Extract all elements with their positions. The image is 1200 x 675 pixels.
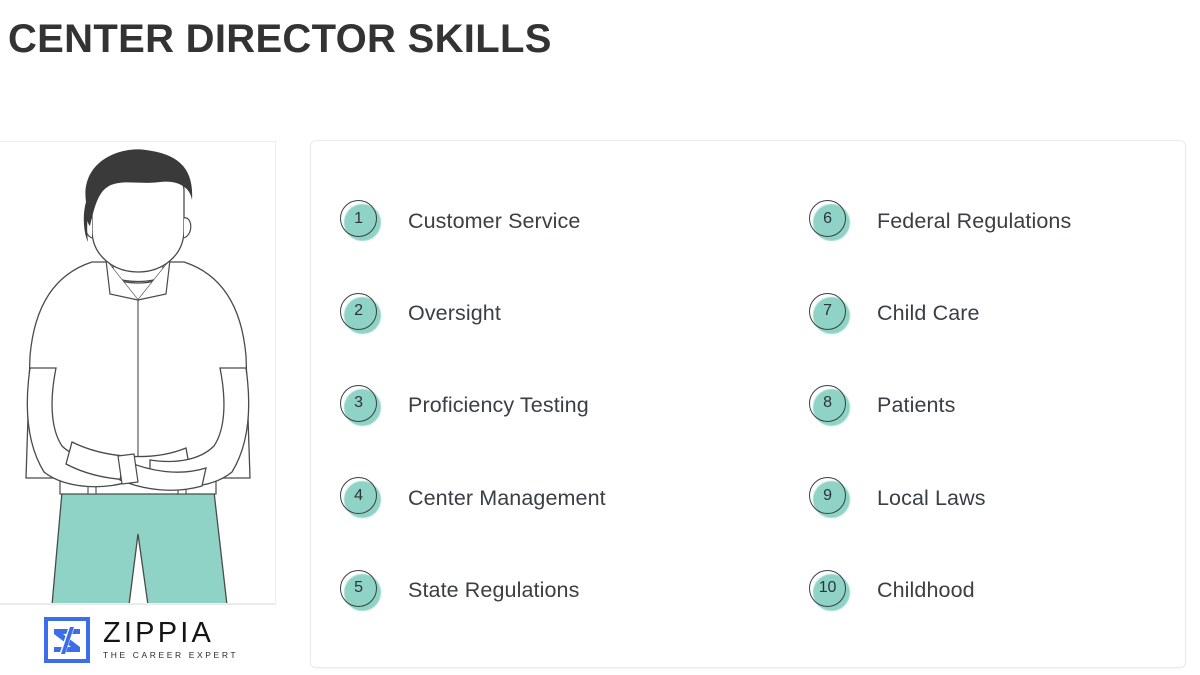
badge-number: 6: [809, 200, 846, 237]
skill-label: Patients: [877, 393, 956, 418]
skill-item-3[interactable]: 3 Proficiency Testing: [311, 360, 748, 452]
skill-item-8[interactable]: 8 Patients: [748, 360, 1185, 452]
illustration-panel: [0, 141, 276, 604]
skill-item-1[interactable]: 1 Customer Service: [311, 175, 748, 267]
badge-number: 2: [340, 293, 377, 330]
page-title: CENTER DIRECTOR SKILLS: [8, 14, 552, 64]
skill-number-badge: 5: [339, 569, 383, 613]
skill-label: Proficiency Testing: [408, 393, 589, 418]
skill-label: Child Care: [877, 301, 980, 326]
skill-label: Customer Service: [408, 209, 580, 234]
skill-number-badge: 3: [339, 384, 383, 428]
skill-label: Oversight: [408, 301, 501, 326]
badge-number: 7: [809, 293, 846, 330]
badge-number: 1: [340, 200, 377, 237]
skill-label: Local Laws: [877, 486, 986, 511]
skill-item-6[interactable]: 6 Federal Regulations: [748, 175, 1185, 267]
skill-label: State Regulations: [408, 578, 579, 603]
skill-item-9[interactable]: 9 Local Laws: [748, 452, 1185, 544]
zippia-wordmark: ZIPPIA THE CAREER EXPERT: [103, 618, 238, 662]
skill-number-badge: 7: [808, 292, 852, 336]
skill-label: Childhood: [877, 578, 975, 603]
man-arms-crossed-illustration: [0, 142, 276, 604]
badge-number: 4: [340, 477, 377, 514]
skill-item-7[interactable]: 7 Child Care: [748, 267, 1185, 359]
badge-number: 9: [809, 477, 846, 514]
skill-number-badge: 9: [808, 476, 852, 520]
badge-number: 3: [340, 385, 377, 422]
zippia-name: ZIPPIA: [103, 618, 238, 648]
skill-number-badge: 6: [808, 199, 852, 243]
skill-number-badge: 1: [339, 199, 383, 243]
skill-label: Federal Regulations: [877, 209, 1071, 234]
skill-number-badge: 2: [339, 292, 383, 336]
skills-card: 1 Customer Service 6 Federal Regulations…: [310, 140, 1186, 668]
zippia-tagline: THE CAREER EXPERT: [103, 649, 238, 662]
skill-item-2[interactable]: 2 Oversight: [311, 267, 748, 359]
zippia-z-logo-icon: [44, 617, 90, 663]
skill-item-4[interactable]: 4 Center Management: [311, 452, 748, 544]
skill-number-badge: 8: [808, 384, 852, 428]
skill-label: Center Management: [408, 486, 606, 511]
badge-number: 8: [809, 385, 846, 422]
skill-number-badge: 10: [808, 569, 852, 613]
skill-item-5[interactable]: 5 State Regulations: [311, 545, 748, 637]
badge-number: 10: [809, 570, 846, 607]
badge-number: 5: [340, 570, 377, 607]
skill-number-badge: 4: [339, 476, 383, 520]
skill-item-10[interactable]: 10 Childhood: [748, 545, 1185, 637]
skills-grid: 1 Customer Service 6 Federal Regulations…: [311, 141, 1185, 667]
zippia-logo: ZIPPIA THE CAREER EXPERT: [0, 604, 276, 675]
